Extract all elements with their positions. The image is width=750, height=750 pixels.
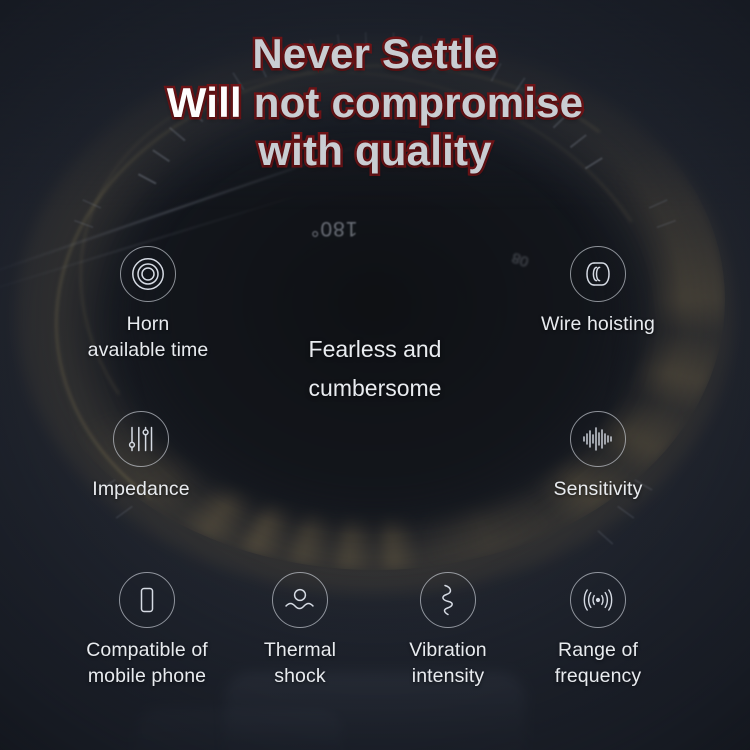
mobile-phone-icon [119, 572, 175, 628]
feature-label: Impedance [26, 477, 256, 503]
feature-label: Horn available time [33, 312, 263, 363]
feature-wire-hoisting[interactable]: Wire hoisting [483, 246, 713, 338]
wire-coil-icon [570, 246, 626, 302]
feature-label: Wire hoisting [483, 312, 713, 338]
feature-sensitivity[interactable]: Sensitivity [483, 411, 713, 503]
feature-label: Range of frequency [483, 638, 713, 689]
signal-waves-icon [570, 572, 626, 628]
feature-range-of-frequency[interactable]: Range of frequency [483, 572, 713, 689]
zigzag-vibration-icon [420, 572, 476, 628]
headline-block: Never Settle Will not compromise with qu… [0, 30, 750, 176]
feature-label: Sensitivity [483, 477, 713, 503]
headline-line-2: Will not compromise [0, 79, 750, 128]
promo-banner: 180° 08 Never Settle Will not compromise… [0, 0, 750, 750]
dial-number-180: 180° [310, 216, 357, 240]
sun-water-icon [272, 572, 328, 628]
headline-line-2-emphasis: Will [167, 79, 242, 126]
audio-waveform-icon [570, 411, 626, 467]
feature-impedance[interactable]: Impedance [26, 411, 256, 503]
headline-line-2-rest: not compromise [242, 79, 583, 126]
headline-line-3: with quality [0, 127, 750, 176]
equalizer-sliders-icon [113, 411, 169, 467]
bottom-object-left [135, 708, 345, 750]
speaker-rings-icon [120, 246, 176, 302]
headline-line-1: Never Settle [0, 30, 750, 79]
feature-horn-available-time[interactable]: Horn available time [33, 246, 263, 363]
